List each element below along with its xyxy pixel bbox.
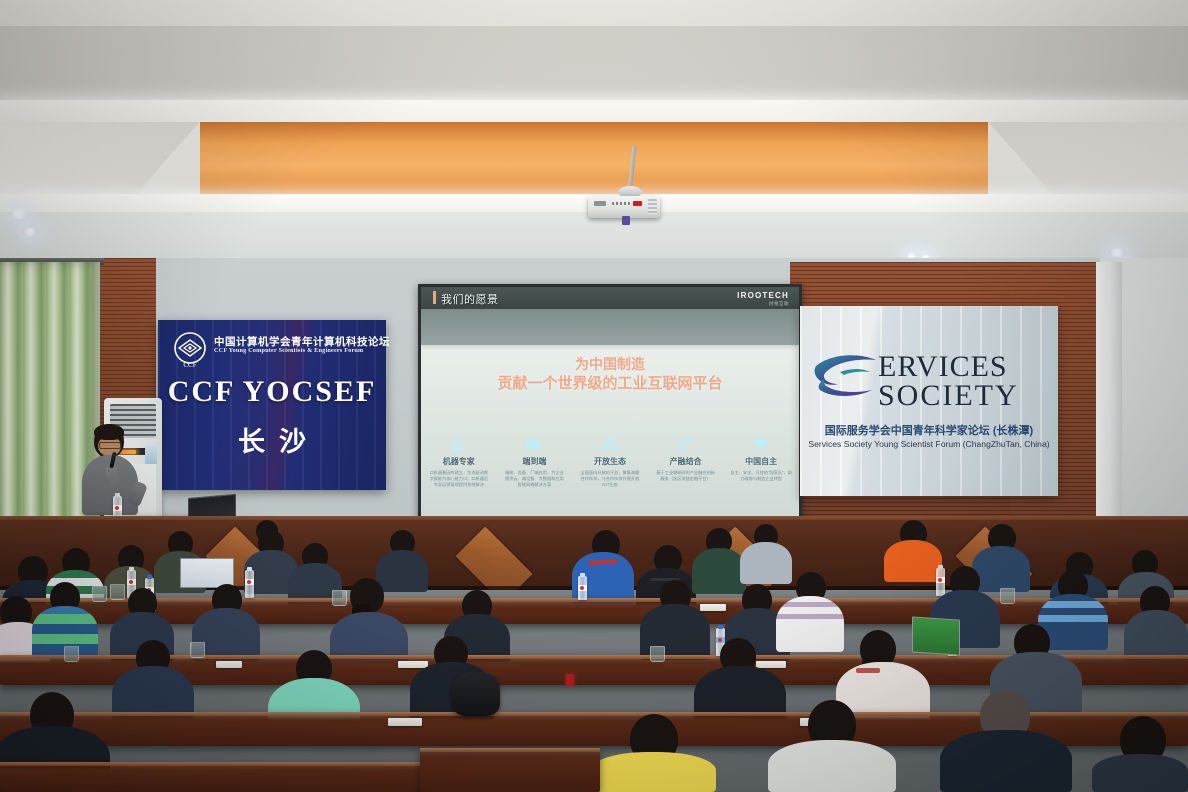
ac-brand-badge bbox=[145, 446, 157, 464]
bottle-cap bbox=[938, 565, 943, 569]
slide-headline-line1: 为中国制造 bbox=[421, 355, 799, 374]
slide-accent-mark bbox=[433, 291, 436, 304]
drinking-glass bbox=[1000, 588, 1015, 604]
slide-column-text: 自主、安全、可控的"国家队"，助力政府与制造企业转型 bbox=[726, 470, 796, 482]
finance-icon bbox=[651, 432, 721, 454]
slide-logo-main: IROOTECH bbox=[737, 291, 789, 300]
downlight-icon bbox=[22, 228, 38, 236]
projector-port-panel bbox=[594, 201, 606, 206]
speaker-hair bbox=[94, 424, 124, 440]
lanyard bbox=[856, 668, 880, 673]
slide-column-label: 机器专家 bbox=[424, 456, 494, 467]
ceiling bbox=[0, 0, 1188, 272]
bottle-cap bbox=[718, 625, 723, 629]
audience-body bbox=[590, 752, 716, 792]
excavator-icon bbox=[424, 432, 494, 454]
bottle-label bbox=[113, 505, 122, 511]
bottle-cap bbox=[147, 575, 152, 579]
ceiling-light-strip-1 bbox=[0, 100, 1188, 122]
projection-screen: 我们的愿景 IROOTECH 树根互联 为中国制造 贡献一个世界级的工业互联网平… bbox=[421, 287, 799, 521]
laptop-screen bbox=[912, 616, 960, 655]
water-bottle bbox=[936, 568, 945, 596]
bottle-label bbox=[936, 577, 945, 583]
banner-ccf-org-en: CCF Young Computer Scientists & Engineer… bbox=[214, 347, 363, 354]
projector-vent bbox=[648, 199, 657, 214]
slide-column: 开放生态 全面面向开放的平台，聚集海量合作伙伴，与合作伙伴共建开放IIoT生态 bbox=[572, 432, 648, 488]
audience-body bbox=[692, 548, 746, 594]
ceiling-cove-light-lower bbox=[196, 122, 996, 194]
name-plate bbox=[398, 661, 428, 668]
audience-laptop bbox=[180, 558, 232, 586]
audience-body bbox=[940, 730, 1072, 792]
slide-title: 我们的愿景 bbox=[441, 291, 499, 307]
name-plate bbox=[756, 661, 786, 668]
slide-column-text: 端侧、设备、厂端应用，为企业提供云、端设备、大数据和应用智能网络解决方案 bbox=[500, 470, 570, 488]
drinking-glass bbox=[64, 646, 79, 662]
bottle-label bbox=[245, 579, 254, 585]
slide-column-label: 产融结合 bbox=[651, 456, 721, 467]
ss-word-line1: ERVICES bbox=[878, 352, 1019, 381]
slide-upper-band bbox=[421, 309, 799, 345]
slide-column: 机器专家 口机器基因库建立，生态驱动数字赋能为核心能力口；口机器后专家运营管理提… bbox=[421, 432, 497, 488]
svg-text:CCF: CCF bbox=[183, 361, 196, 369]
slide-column: 中国自主 自主、安全、可控的"国家队"，助力政府与制造企业转型 bbox=[723, 432, 799, 488]
audience-body bbox=[776, 596, 844, 652]
downlight-icon bbox=[1108, 248, 1126, 257]
audience-body bbox=[884, 540, 942, 582]
bottle-label bbox=[578, 585, 587, 591]
slide-column-label: 开放生态 bbox=[575, 456, 645, 467]
desk-surface bbox=[420, 748, 600, 752]
services-society-wordmark: ERVICES SOCIETY bbox=[878, 352, 1019, 410]
banner-services-society: ERVICES SOCIETY 国际服务学会中国青年科学家论坛 (长株潭) Se… bbox=[800, 306, 1058, 496]
projector-indicator-icon bbox=[633, 201, 642, 206]
slide-headline: 为中国制造 贡献一个世界级的工业互联网平台 bbox=[421, 355, 799, 393]
banner-ccf-yocsef: CCF 中国计算机学会青年计算机科技论坛 CCF Young Computer … bbox=[158, 320, 386, 490]
ss-word-line2: SOCIETY bbox=[878, 381, 1019, 410]
drinking-glass bbox=[92, 586, 107, 602]
projector-body bbox=[588, 196, 660, 218]
drinking-glass bbox=[332, 590, 347, 606]
audience-body bbox=[376, 550, 428, 592]
audience-body bbox=[972, 546, 1030, 592]
speaker-glasses-icon bbox=[99, 442, 121, 449]
bottle-label bbox=[716, 637, 725, 643]
downlight-icon bbox=[8, 208, 30, 219]
ceiling-band-grey-1 bbox=[0, 26, 1188, 100]
banner-ccf-city: 长沙 bbox=[158, 420, 386, 459]
slide-column-text: 全面面向开放的平台，聚集海量合作伙伴，与合作伙伴共建开放IIoT生态 bbox=[575, 470, 645, 488]
drinking-glass bbox=[110, 584, 125, 600]
ccf-logo-icon: CCF bbox=[170, 330, 210, 370]
projector-button-row bbox=[612, 202, 630, 205]
slide-column-label: 中国自主 bbox=[726, 456, 796, 467]
cloud-icon bbox=[500, 432, 570, 454]
projector-cable-connector bbox=[622, 216, 630, 225]
bottle-cap bbox=[115, 493, 120, 497]
name-plate bbox=[388, 718, 422, 726]
desk-row bbox=[420, 748, 600, 792]
banner-ccf-acronym: CCF YOCSEF bbox=[158, 375, 386, 409]
slide-feature-columns: 机器专家 口机器基因库建立，生态驱动数字赋能为核心能力口；口机器后专家运营管理提… bbox=[421, 432, 799, 488]
audience-laptop bbox=[912, 616, 958, 653]
equipment-indicator-icon bbox=[566, 674, 574, 686]
bottle-cap bbox=[580, 573, 585, 577]
slide-column-text: 口机器基因库建立，生态驱动数字赋能为核心能力口；口机器后专家运营管理提供系统解决 bbox=[424, 470, 494, 488]
slide-column-label: 端到端 bbox=[500, 456, 570, 467]
conference-hall-photo: 我们的愿景 IROOTECH 树根互联 为中国制造 贡献一个世界级的工业互联网平… bbox=[0, 0, 1188, 792]
audience-body bbox=[768, 740, 896, 792]
ceiling-band-white-top bbox=[0, 0, 1188, 26]
china-map-icon bbox=[726, 432, 796, 454]
banner-ss-subtitle-cn: 国际服务学会中国青年科学家论坛 (长株潭) bbox=[800, 422, 1058, 438]
bottle-cap bbox=[247, 567, 252, 571]
audience-body bbox=[1092, 754, 1188, 792]
audience-body bbox=[740, 542, 792, 584]
water-bottle bbox=[245, 570, 254, 598]
water-bottle bbox=[113, 496, 122, 518]
banner-ss-subtitle-en: Services Society Young Scientist Forum (… bbox=[800, 439, 1058, 449]
bottle-cap bbox=[129, 567, 134, 571]
audience-head bbox=[256, 520, 278, 542]
drinking-glass bbox=[650, 646, 665, 662]
slide-column: 端到端 端侧、设备、厂端应用，为企业提供云、端设备、大数据和应用智能网络解决方案 bbox=[497, 432, 573, 488]
name-plate bbox=[700, 604, 726, 611]
backpack bbox=[452, 672, 500, 716]
drinking-glass bbox=[190, 642, 205, 658]
slide-column-text: 基于工业物联网的产业融合创新服务（含区块链金融平台） bbox=[651, 470, 721, 482]
slide-brand-logo: IROOTECH 树根互联 bbox=[737, 291, 789, 307]
network-icon bbox=[575, 432, 645, 454]
water-bottle bbox=[578, 576, 587, 600]
slide-column: 产融结合 基于工业物联网的产业融合创新服务（含区块链金融平台） bbox=[648, 432, 724, 488]
slide-headline-line2: 贡献一个世界级的工业互联网平台 bbox=[421, 374, 799, 393]
slide-logo-sub: 树根互联 bbox=[737, 301, 789, 307]
bottle-label bbox=[127, 579, 136, 585]
name-plate bbox=[216, 661, 242, 668]
